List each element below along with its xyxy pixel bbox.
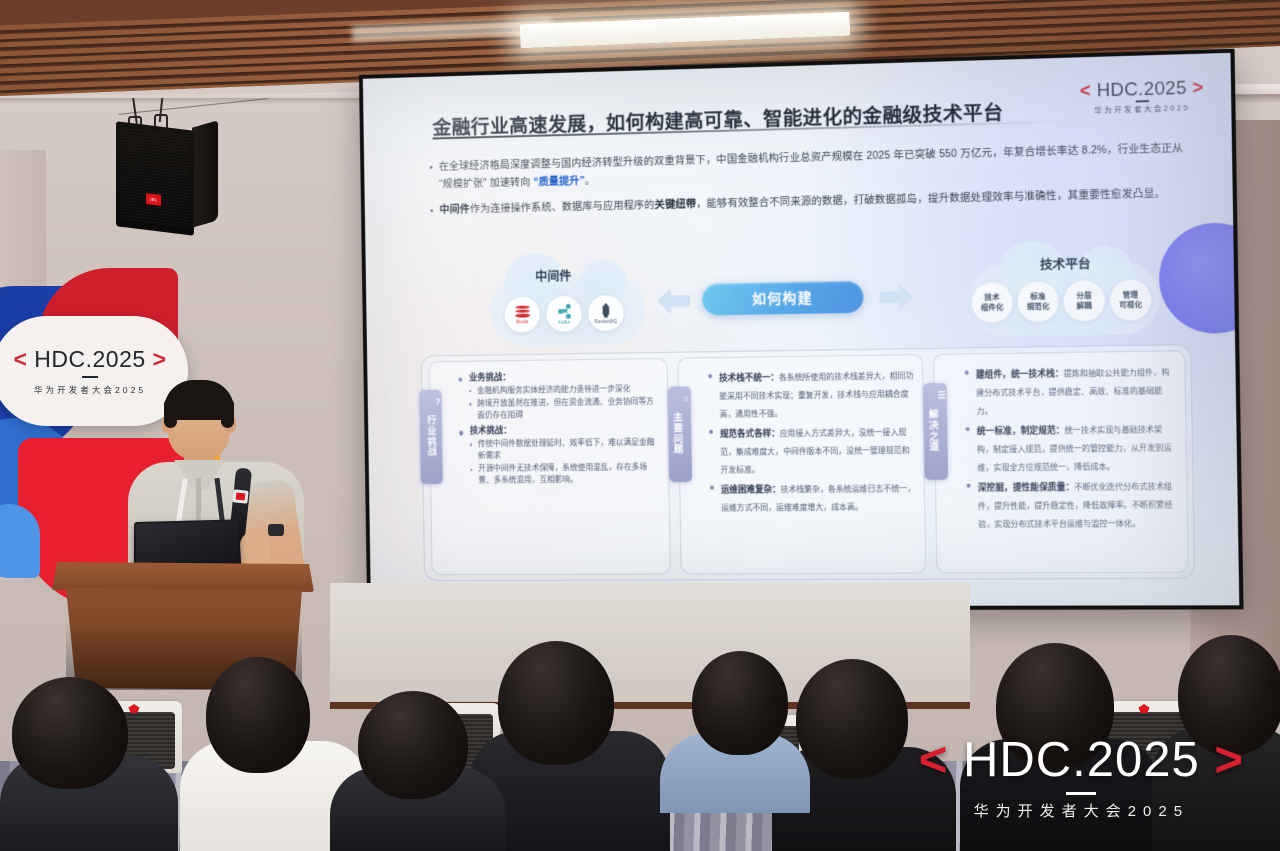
- hdc-watermark: < HDC.2025 > 华为开发者大会2025: [919, 736, 1244, 819]
- panel-tab-label: 主要问题: [671, 413, 682, 455]
- audience-head: [796, 659, 908, 779]
- question-mark-icon: ?: [435, 396, 441, 408]
- left-angle-icon: <: [919, 733, 949, 787]
- panel-item-head: 规范各式各样：: [720, 428, 780, 439]
- platform-circle-row: 技术 组件化 标准 规范化 分层 解耦 管理 可: [971, 279, 1151, 323]
- panel-item-head: 运维困难复杂：: [721, 484, 781, 494]
- panel-industry-challenges: ? 行业挑战 业务挑战： 金融机构服务实体经济的能力亟待进一步深化 跨境开放虽然…: [428, 358, 670, 575]
- audience-head: [358, 691, 468, 799]
- panel-item-head: 业务挑战：: [469, 369, 659, 384]
- panel-item-head: 建组件，统一技术栈：: [976, 368, 1064, 379]
- platform-cloud-title: 技术平台: [1040, 254, 1091, 273]
- panel-tab-label: 解决之道: [927, 410, 939, 453]
- platform-circle: 技术 组件化: [971, 282, 1012, 323]
- platform-circle: 分层 解耦: [1063, 280, 1105, 321]
- slide-hdc-subtitle: 华为开发者大会2025: [1080, 103, 1204, 114]
- kafka-icon: [557, 303, 572, 318]
- panel-subitem-list: 传统中间件数据处理延时、效率低下，难以满足金融新需求 开源中间件无技术保障，系统…: [470, 436, 661, 487]
- platform-circle-line1: 管理: [1123, 290, 1138, 300]
- panel-item: 技术挑战： 传统中间件数据处理延时、效率低下，难以满足金融新需求 开源中间件无技…: [459, 423, 660, 488]
- platform-circle-line2: 组件化: [981, 302, 1004, 312]
- microphone-flag-badge: [232, 489, 248, 503]
- middleware-chip-redis: Redis: [504, 297, 539, 333]
- panel-item: 深挖掘，提性能保质量：不断优化迭代分布式技术组件，提升性能，提升稳定性，降低故障…: [966, 476, 1178, 532]
- panel-subitem: 开源中间件无技术保障，系统使用混乱，存在多场景、多系统混用，互相影响。: [470, 461, 660, 487]
- backdrop-hdc-text: HDC.2025: [34, 346, 145, 372]
- panel-item: 规范各式各样：应用接入方式差异大，没统一接入规范，集成难度大，中间件版本不同，没…: [709, 422, 916, 478]
- panel-item: 建组件，统一技术栈：提炼和抽取公共能力组件，构建分布式技术平台，提供稳定、高效、…: [965, 362, 1177, 419]
- rocketmq-label: RocketMQ: [595, 318, 618, 323]
- jbl-logo: JBL: [146, 193, 161, 206]
- panel-item: 运维困难复杂：技术栈繁杂，各系统运维日志不统一，运维方式不同，运维难度增大，成本…: [710, 478, 916, 516]
- panel-subitem: 金融机构服务实体经济的能力亟待进一步深化: [469, 382, 659, 397]
- panel-item-list: 建组件，统一技术栈：提炼和抽取公共能力组件，构建分布式技术平台，提供稳定、高效、…: [965, 362, 1179, 533]
- panel-item-head: 深挖掘，提性能保质量：: [978, 482, 1075, 493]
- right-angle-icon: >: [1214, 733, 1244, 787]
- bullet-dot-icon: •: [430, 202, 440, 220]
- presenter-placket: [196, 478, 201, 526]
- backdrop-hdc-underline: [82, 376, 98, 378]
- arrow-right-icon: [879, 284, 914, 311]
- slide-hdc-text: HDC.2025: [1097, 78, 1188, 101]
- middleware-chip-rocketmq: RocketMQ: [588, 295, 624, 331]
- speaker-grille: [120, 128, 190, 229]
- watermark-wordmark: < HDC.2025 >: [919, 736, 1244, 785]
- left-angle-icon: <: [1080, 80, 1092, 101]
- bullet-dot-icon: •: [429, 159, 439, 194]
- watermark-text: HDC.2025: [963, 733, 1200, 787]
- audience-head: [498, 641, 614, 765]
- redis-icon: [515, 305, 530, 318]
- panel-subitem-list: 金融机构服务实体经济的能力亟待进一步深化 跨境开放虽然在推进，但在资金流通、业务…: [469, 382, 659, 422]
- presentation-slide: 金融行业高速发展，如何构建高可靠、智能进化的金融级技术平台 < HDC.2025…: [363, 53, 1239, 607]
- panel-item: 统一标准，制定规范：统一技术实现与基础技术架构，制定接入规范，提供统一的管控能力…: [965, 419, 1177, 476]
- slide-hdc-wordmark: < HDC.2025 >: [1080, 78, 1204, 100]
- slide-bullet-item: • 在全球经济格局深度调整与国内经济转型升级的双重背景下，中国金融机构行业总资产…: [429, 140, 1189, 194]
- podium-top-surface: [52, 562, 314, 592]
- presenter-sideburn-left: [164, 398, 177, 428]
- platform-circle-line2: 解耦: [1077, 301, 1092, 311]
- watermark-underline: [1066, 792, 1096, 795]
- middleware-chip-kafka: Kafka: [546, 296, 582, 332]
- panel-item-head: 技术挑战：: [470, 423, 660, 438]
- presenter-hand: [240, 532, 270, 566]
- slide-hdc-logo: < HDC.2025 > 华为开发者大会2025: [1080, 78, 1205, 114]
- huawei-mark-icon: [236, 493, 246, 501]
- panel-item-list: 技术栈不统一：各系统所使用的技术栈差异大，相同功能采用不同技术实现；重复开发，技…: [708, 365, 916, 515]
- audience-head: [12, 677, 128, 789]
- panel-item-head: 技术栈不统一：: [719, 372, 779, 383]
- panel-item-head: 统一标准，制定规范：: [977, 425, 1065, 436]
- audience-head: [206, 657, 310, 773]
- how-to-build-pill: 如何构建: [702, 281, 864, 316]
- slide-hdc-underline: [1135, 100, 1148, 102]
- slide-bullet-list: • 在全球经济格局深度调整与国内经济转型升级的双重背景下，中国金融机构行业总资产…: [429, 140, 1189, 229]
- middleware-icon-row: Redis Kafka: [504, 295, 623, 333]
- backdrop-hdc-wordmark: < HDC.2025 >: [13, 346, 166, 373]
- panel-solutions: ☰ 解决之道 建组件，统一技术栈：提炼和抽取公共能力组件，构建分布式技术平台，提…: [933, 350, 1189, 573]
- platform-circle: 管理 可视化: [1110, 279, 1152, 320]
- panel-tab-main-problems: ☼ 主要问题: [668, 386, 692, 482]
- platform-circle-line1: 标准: [1030, 291, 1045, 301]
- screen-surface: 金融行业高速发展，如何构建高可靠、智能进化的金融级技术平台 < HDC.2025…: [363, 53, 1239, 607]
- panel-item: 技术栈不统一：各系统所使用的技术栈差异大，相同功能采用不同技术实现；重复开发，技…: [708, 365, 915, 422]
- panel-item-list: 业务挑战： 金融机构服务实体经济的能力亟待进一步深化 跨境开放虽然在推进，但在资…: [458, 369, 660, 487]
- right-angle-icon: >: [153, 346, 167, 372]
- presenter-sideburn-right: [221, 398, 234, 428]
- panel-tab-label: 行业挑战: [425, 416, 436, 458]
- redis-label: Redis: [516, 319, 528, 324]
- list-icon: ☰: [937, 389, 946, 402]
- arrow-left-icon: [657, 288, 691, 314]
- ceiling-speaker: JBL: [108, 98, 238, 238]
- rocketmq-icon: [600, 303, 612, 318]
- presenter-wristwatch: [268, 524, 284, 536]
- platform-circle: 标准 规范化: [1017, 281, 1059, 322]
- middleware-cloud-title: 中间件: [535, 266, 571, 284]
- audience-head: [692, 651, 788, 755]
- chair-brand-icon: [1139, 704, 1150, 713]
- bullet-highlight: “质量提升”: [533, 176, 585, 188]
- panel-subitem: 传统中间件数据处理延时、效率低下，难以满足金融新需求: [470, 436, 660, 462]
- watermark-subtitle: 华为开发者大会2025: [919, 804, 1244, 819]
- panels-row: ? 行业挑战 业务挑战： 金融机构服务实体经济的能力亟待进一步深化 跨境开放虽然…: [428, 350, 1188, 575]
- panel-subitem: 跨境开放虽然在推进，但在资金流通、业务协同等方面仍存在阻碍: [469, 395, 659, 421]
- projection-screen: 金融行业高速发展，如何构建高可靠、智能进化的金融级技术平台 < HDC.2025…: [359, 49, 1244, 611]
- panel-item: 业务挑战： 金融机构服务实体经济的能力亟待进一步深化 跨境开放虽然在推进，但在资…: [458, 369, 659, 422]
- panel-tab-solutions: ☰ 解决之道: [923, 383, 948, 480]
- bullet-text-1: 在全球经济格局深度调整与国内经济转型升级的双重背景下，中国金融机构行业总资产规模…: [439, 140, 1189, 193]
- right-angle-icon: >: [1192, 77, 1204, 98]
- presenter-laptop: [134, 519, 241, 569]
- photo-stage: JBL 金融行业高速发展，如何构建高可靠、智能进化的金融级技术平台 < HDC.…: [0, 0, 1280, 851]
- sun-icon: ☼: [682, 392, 691, 404]
- left-angle-icon: <: [13, 346, 27, 372]
- platform-circle-line2: 可视化: [1119, 300, 1142, 311]
- platform-circle-line2: 规范化: [1027, 302, 1050, 313]
- panel-tab-industry-challenges: ? 行业挑战: [419, 390, 443, 484]
- panel-main-problems: ☼ 主要问题 技术栈不统一：各系统所使用的技术栈差异大，相同功能采用不同技术实现…: [677, 354, 926, 574]
- architecture-diagram: 中间件 Redis: [427, 248, 1187, 353]
- platform-circle-line1: 分层: [1076, 291, 1091, 301]
- speaker-side: [192, 120, 218, 227]
- kafka-label: Kafka: [558, 319, 570, 324]
- slide-title: 金融行业高速发展，如何构建高可靠、智能进化的金融级技术平台: [432, 96, 1003, 140]
- platform-circle-line1: 技术: [984, 292, 999, 302]
